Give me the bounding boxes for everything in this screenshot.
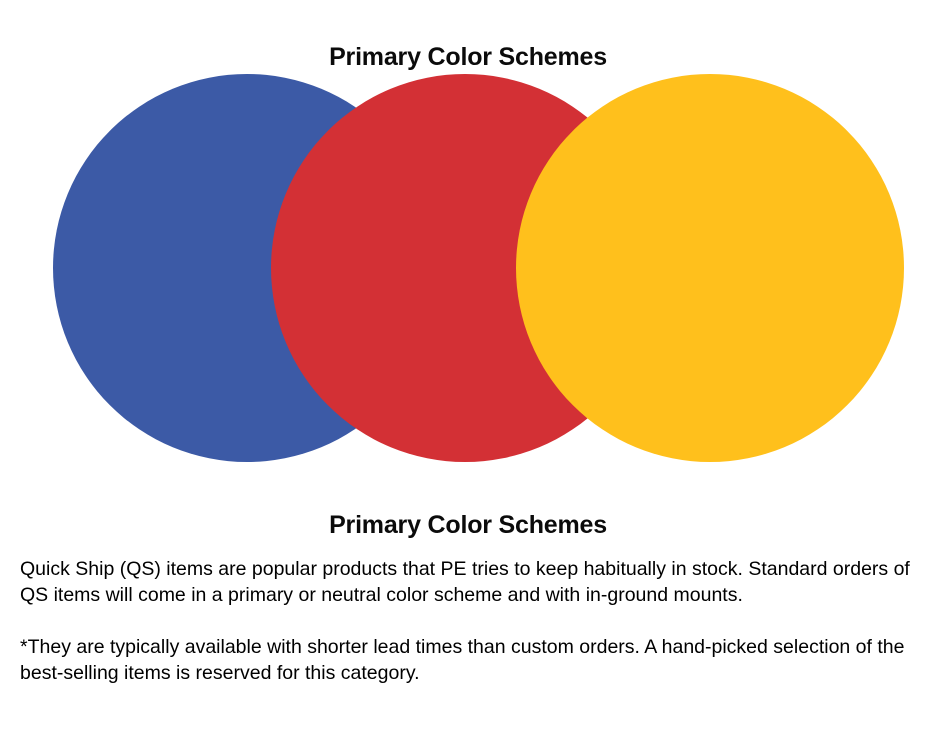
page-root: Primary Color Schemes Primary Color Sche…	[0, 0, 936, 736]
paragraph-lead-times-note: *They are typically available with short…	[20, 634, 910, 686]
body-copy: Quick Ship (QS) items are popular produc…	[20, 556, 910, 686]
venn-circle-yellow	[516, 74, 904, 462]
primary-color-venn-diagram	[0, 0, 936, 480]
paragraph-quick-ship-overview: Quick Ship (QS) items are popular produc…	[20, 556, 910, 608]
page-title-bottom: Primary Color Schemes	[0, 512, 936, 540]
